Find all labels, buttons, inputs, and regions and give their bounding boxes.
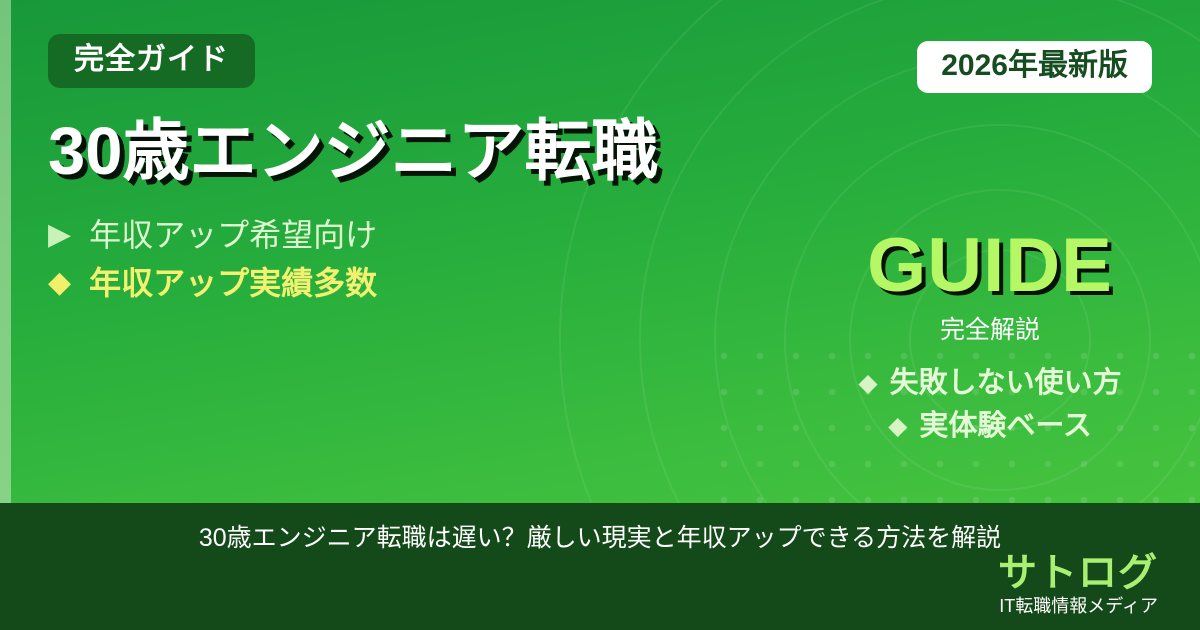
left-accent-bar xyxy=(0,0,11,503)
diamond-icon: ◆ xyxy=(48,268,71,298)
page-title: 30歳エンジニア転職 xyxy=(48,114,738,189)
diamond-icon: ◆ xyxy=(888,414,907,439)
guide-point-label: 実体験ベース xyxy=(919,408,1092,446)
eyebrow-badge: 完全ガイド xyxy=(48,34,255,88)
feature-item: ◆ 年収アップ実績多数 xyxy=(48,263,768,303)
year-badge: 2026年最新版 xyxy=(917,41,1152,93)
guide-point-list: ◆ 失敗しない使い方 ◆ 実体験ベース xyxy=(820,365,1160,445)
ogp-card: 2026年最新版 完全ガイド 30歳エンジニア転職 ▶ 年収アップ希望向け ◆ … xyxy=(0,0,1200,630)
guide-wordmark: GUIDE xyxy=(820,228,1160,304)
triangle-right-icon: ▶ xyxy=(48,220,71,250)
brand-block: サトログ IT転職情報メディア xyxy=(998,554,1158,618)
feature-item: ▶ 年収アップ希望向け xyxy=(48,215,768,255)
bottom-bar: 30歳エンジニア転職は遅い？厳しい現実と年収アップできる方法を解説 サトログ I… xyxy=(0,503,1200,630)
guide-point-item: ◆ 実体験ベース xyxy=(820,408,1160,446)
brand-name: サトログ xyxy=(998,554,1158,595)
guide-point-label: 失敗しない使い方 xyxy=(890,365,1122,403)
article-headline: 30歳エンジニア転職は遅い？厳しい現実と年収アップできる方法を解説 xyxy=(0,523,1200,553)
feature-item-label: 年収アップ実績多数 xyxy=(89,263,377,303)
guide-point-item: ◆ 失敗しない使い方 xyxy=(820,365,1160,403)
guide-subtitle: 完全解説 xyxy=(820,318,1160,343)
diamond-icon: ◆ xyxy=(858,371,877,396)
brand-tagline: IT転職情報メディア xyxy=(998,596,1158,618)
right-content-column: GUIDE 完全解説 ◆ 失敗しない使い方 ◆ 実体験ベース xyxy=(820,228,1160,450)
feature-item-label: 年収アップ希望向け xyxy=(89,215,377,255)
feature-list: ▶ 年収アップ希望向け ◆ 年収アップ実績多数 xyxy=(48,215,768,303)
left-content-column: 完全ガイド 30歳エンジニア転職 ▶ 年収アップ希望向け ◆ 年収アップ実績多数 xyxy=(48,34,768,311)
